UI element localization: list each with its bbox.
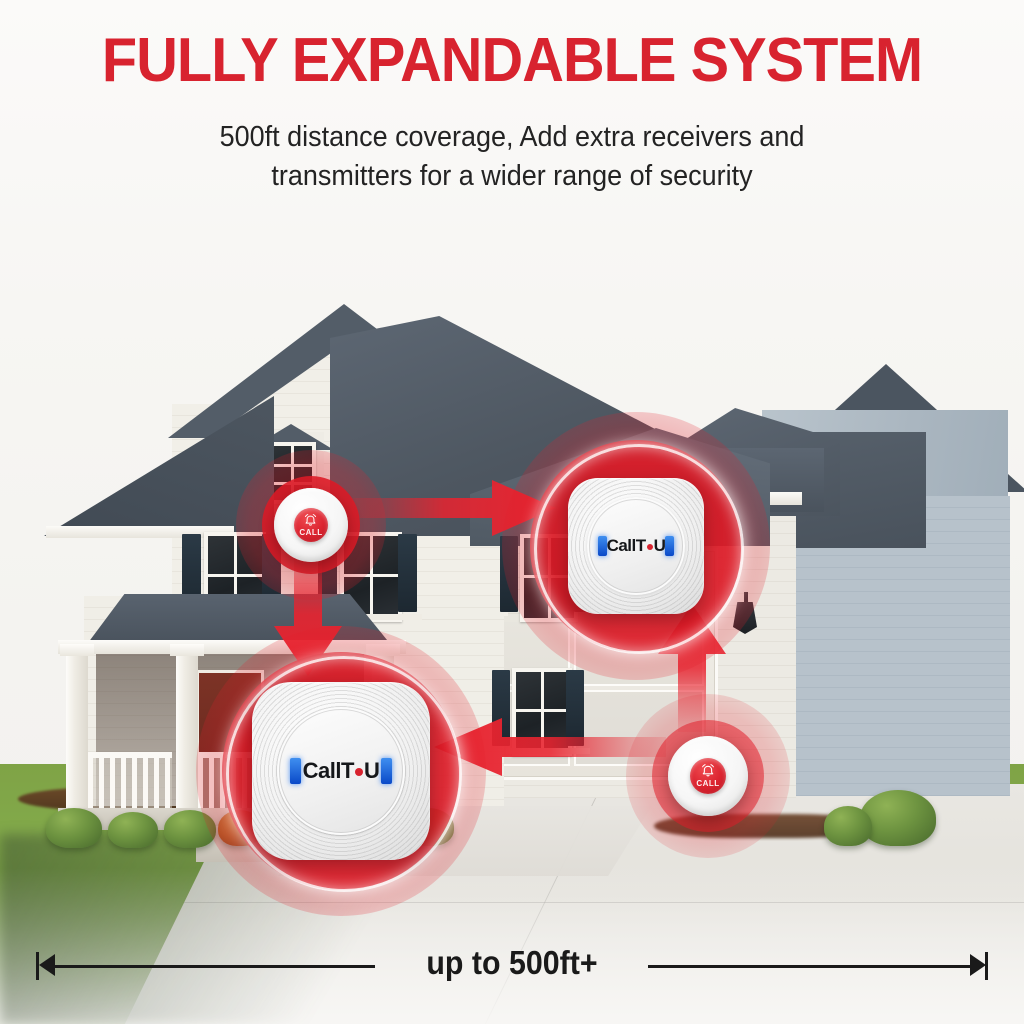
dimension-arrowhead-right — [970, 954, 986, 976]
arrow-up-garage — [652, 598, 732, 732]
distance-dimension-bar: up to 500ft+ — [0, 946, 1024, 986]
shrub — [108, 812, 158, 848]
product-feature-image: FULLY EXPANDABLE SYSTEM 500ft distance c… — [0, 0, 1024, 1024]
subtitle-line-2: transmitters for a wider range of securi… — [36, 157, 988, 196]
left-roof — [44, 396, 274, 536]
receiver-porch[interactable]: CallTU — [252, 682, 430, 860]
call-button-upstairs[interactable]: CALL — [274, 488, 348, 562]
arrow-left-porch — [428, 712, 666, 782]
house-illustration: CALL CallTU CallTU — [0, 196, 1024, 1024]
shutter — [500, 536, 518, 612]
brand-logo-part2: U — [364, 758, 379, 783]
porch-fascia — [58, 640, 406, 654]
page-title: FULLY EXPANDABLE SYSTEM — [36, 30, 988, 92]
shrub — [46, 808, 102, 848]
dimension-label: up to 500ft+ — [41, 944, 983, 982]
brand-logo-part1: CallT — [607, 536, 646, 555]
shutter — [398, 534, 417, 612]
brand-logo-part2: U — [654, 536, 666, 555]
porch-column — [176, 652, 198, 820]
receiver-upstairs[interactable]: CallTU — [568, 478, 704, 614]
call-button-label: CALL — [696, 779, 719, 788]
shrub — [824, 806, 872, 846]
subtitle-line-1: 500ft distance coverage, Add extra recei… — [36, 118, 988, 157]
arrow-down-left — [268, 552, 348, 680]
call-button-garage[interactable]: CALL — [668, 736, 748, 816]
porch-column — [66, 652, 88, 820]
shrub — [860, 790, 936, 846]
bell-icon — [699, 763, 717, 779]
call-button-face[interactable]: CALL — [690, 758, 727, 795]
page-subtitle: 500ft distance coverage, Add extra recei… — [36, 118, 988, 195]
call-button-label: CALL — [299, 528, 322, 537]
house — [0, 196, 1024, 896]
arrow-right-upstairs — [352, 472, 562, 544]
brand-logo-part1: CallT — [303, 758, 354, 783]
call-button-face[interactable]: CALL — [294, 508, 328, 542]
dimension-line-right — [648, 965, 970, 968]
dimension-end-cap-right — [985, 952, 988, 980]
bell-icon — [302, 513, 319, 528]
shrub — [164, 810, 216, 848]
brand-logo-dot — [647, 544, 653, 550]
brand-logo: CallTU — [568, 536, 704, 556]
brand-logo: CallTU — [252, 758, 430, 784]
brand-logo-dot — [355, 768, 363, 776]
